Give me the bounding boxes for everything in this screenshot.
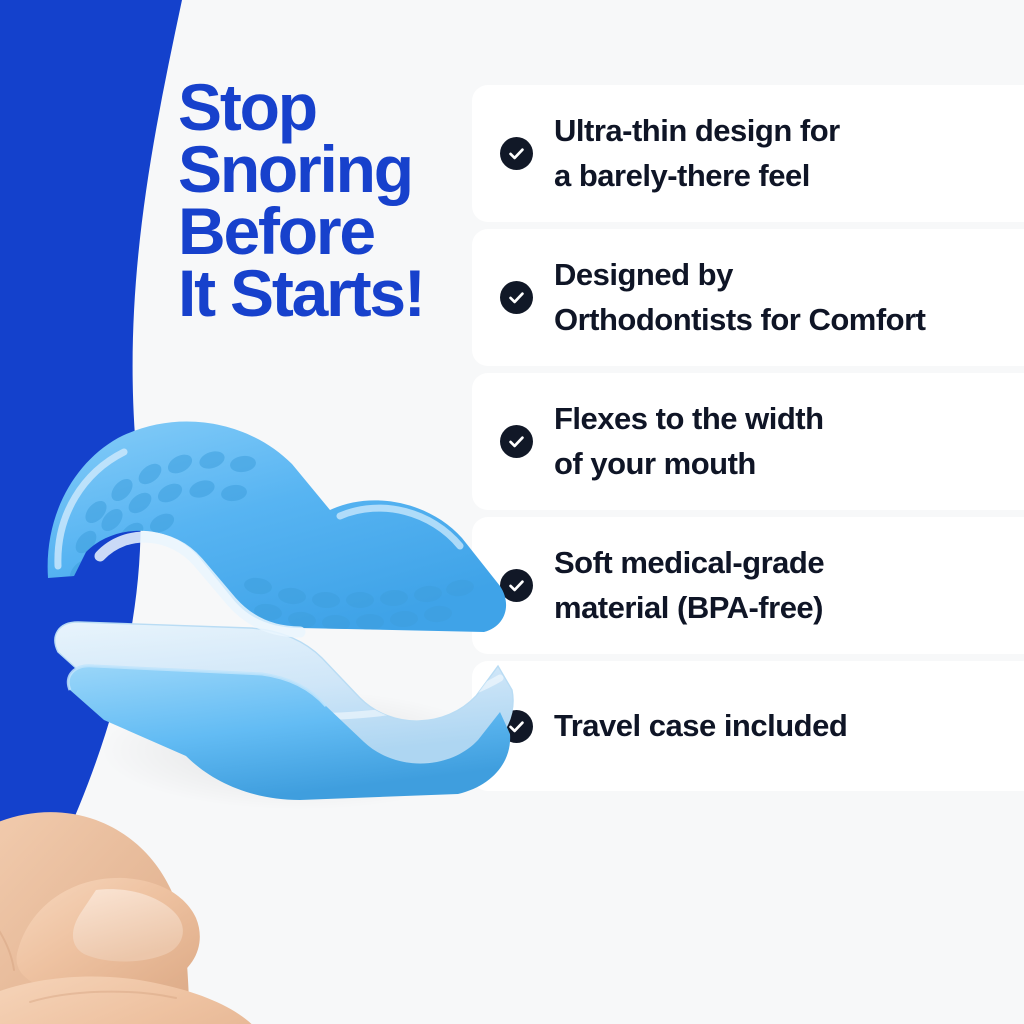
page-title: Stop Snoring Before It Starts! bbox=[178, 76, 468, 324]
product-photo-hand-holding-mouthguard bbox=[0, 390, 540, 1024]
mouthguard-top-arch bbox=[48, 421, 506, 632]
feature-label: Flexes to the width of your mouth bbox=[554, 397, 824, 485]
poster-canvas: Stop Snoring Before It Starts! Ultra-thi… bbox=[0, 0, 1024, 1024]
feature-list: Ultra-thin design for a barely-there fee… bbox=[472, 85, 1024, 798]
feature-label: Travel case included bbox=[554, 704, 847, 748]
check-circle-icon bbox=[500, 281, 533, 314]
check-circle-icon bbox=[500, 137, 533, 170]
feature-card-1[interactable]: Ultra-thin design for a barely-there fee… bbox=[472, 85, 1024, 222]
feature-label: Designed by Orthodontists for Comfort bbox=[554, 253, 926, 341]
feature-label: Ultra-thin design for a barely-there fee… bbox=[554, 109, 840, 197]
feature-label: Soft medical-grade material (BPA-free) bbox=[554, 541, 824, 629]
index-finger bbox=[0, 976, 271, 1024]
feature-card-2[interactable]: Designed by Orthodontists for Comfort bbox=[472, 229, 1024, 366]
feature-card-5[interactable]: Travel case included bbox=[472, 661, 1024, 791]
hand bbox=[0, 812, 372, 1024]
feature-card-4[interactable]: Soft medical-grade material (BPA-free) bbox=[472, 517, 1024, 654]
feature-card-3[interactable]: Flexes to the width of your mouth bbox=[472, 373, 1024, 510]
